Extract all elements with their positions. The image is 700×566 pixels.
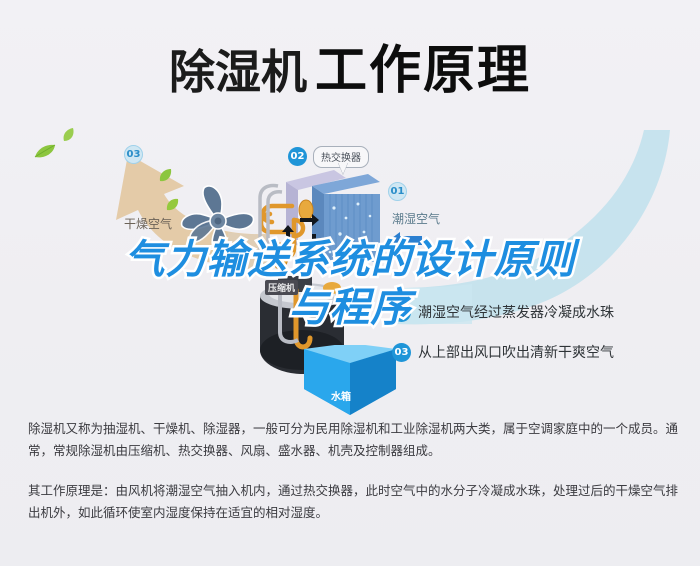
- leaf-icon: [62, 128, 75, 142]
- paragraph-2: 其工作原理是：由风机将潮湿空气抽入机内，通过热交换器，此时空气中的水分子冷凝成水…: [28, 480, 678, 524]
- step-1-text: 潮湿空气经过蒸发器冷凝成水珠: [418, 302, 614, 322]
- water-tank-icon: [300, 345, 400, 415]
- step-line-2: 03 从上部出风口吹出清新干爽空气: [392, 342, 614, 362]
- page-title-part-one: 除湿机: [169, 45, 307, 99]
- step-2-badge: 03: [392, 343, 411, 362]
- paragraph-1: 除湿机又称为抽湿机、干燥机、除湿器，一般可分为民用除湿机和工业除湿机两大类，属于…: [28, 418, 678, 462]
- fan-icon: [178, 180, 258, 262]
- dehumidifier-diagram: 干燥空气 潮湿空气 01 02 03 热交换器 压缩机 水箱 02 潮湿空气经过…: [0, 120, 700, 410]
- callout-pointer-icon: [338, 162, 348, 174]
- air-inlet-arrow-icon: [388, 232, 422, 250]
- badge-01: 01: [388, 182, 407, 201]
- leaf-icon: [158, 168, 173, 182]
- body-copy: 除湿机又称为抽湿机、干燥机、除湿器，一般可分为民用除湿机和工业除湿机两大类，属于…: [28, 418, 678, 542]
- water-tank-label: 水箱: [331, 388, 351, 403]
- page-title-part-two: 工作原理: [315, 41, 531, 101]
- step-1-badge: 02: [392, 303, 411, 322]
- infographic-page: 除湿机工作原理: [0, 0, 700, 566]
- compressor-label: 压缩机: [265, 280, 298, 295]
- page-title: 除湿机工作原理: [0, 28, 700, 103]
- dry-air-label: 干燥空气: [124, 215, 172, 232]
- badge-02: 02: [288, 147, 307, 166]
- leaf-icon: [34, 144, 56, 160]
- step-2-text: 从上部出风口吹出清新干爽空气: [418, 342, 614, 362]
- step-line-1: 02 潮湿空气经过蒸发器冷凝成水珠: [392, 302, 614, 322]
- humid-air-label: 潮湿空气: [392, 210, 440, 227]
- badge-03-dry-air: 03: [124, 145, 143, 164]
